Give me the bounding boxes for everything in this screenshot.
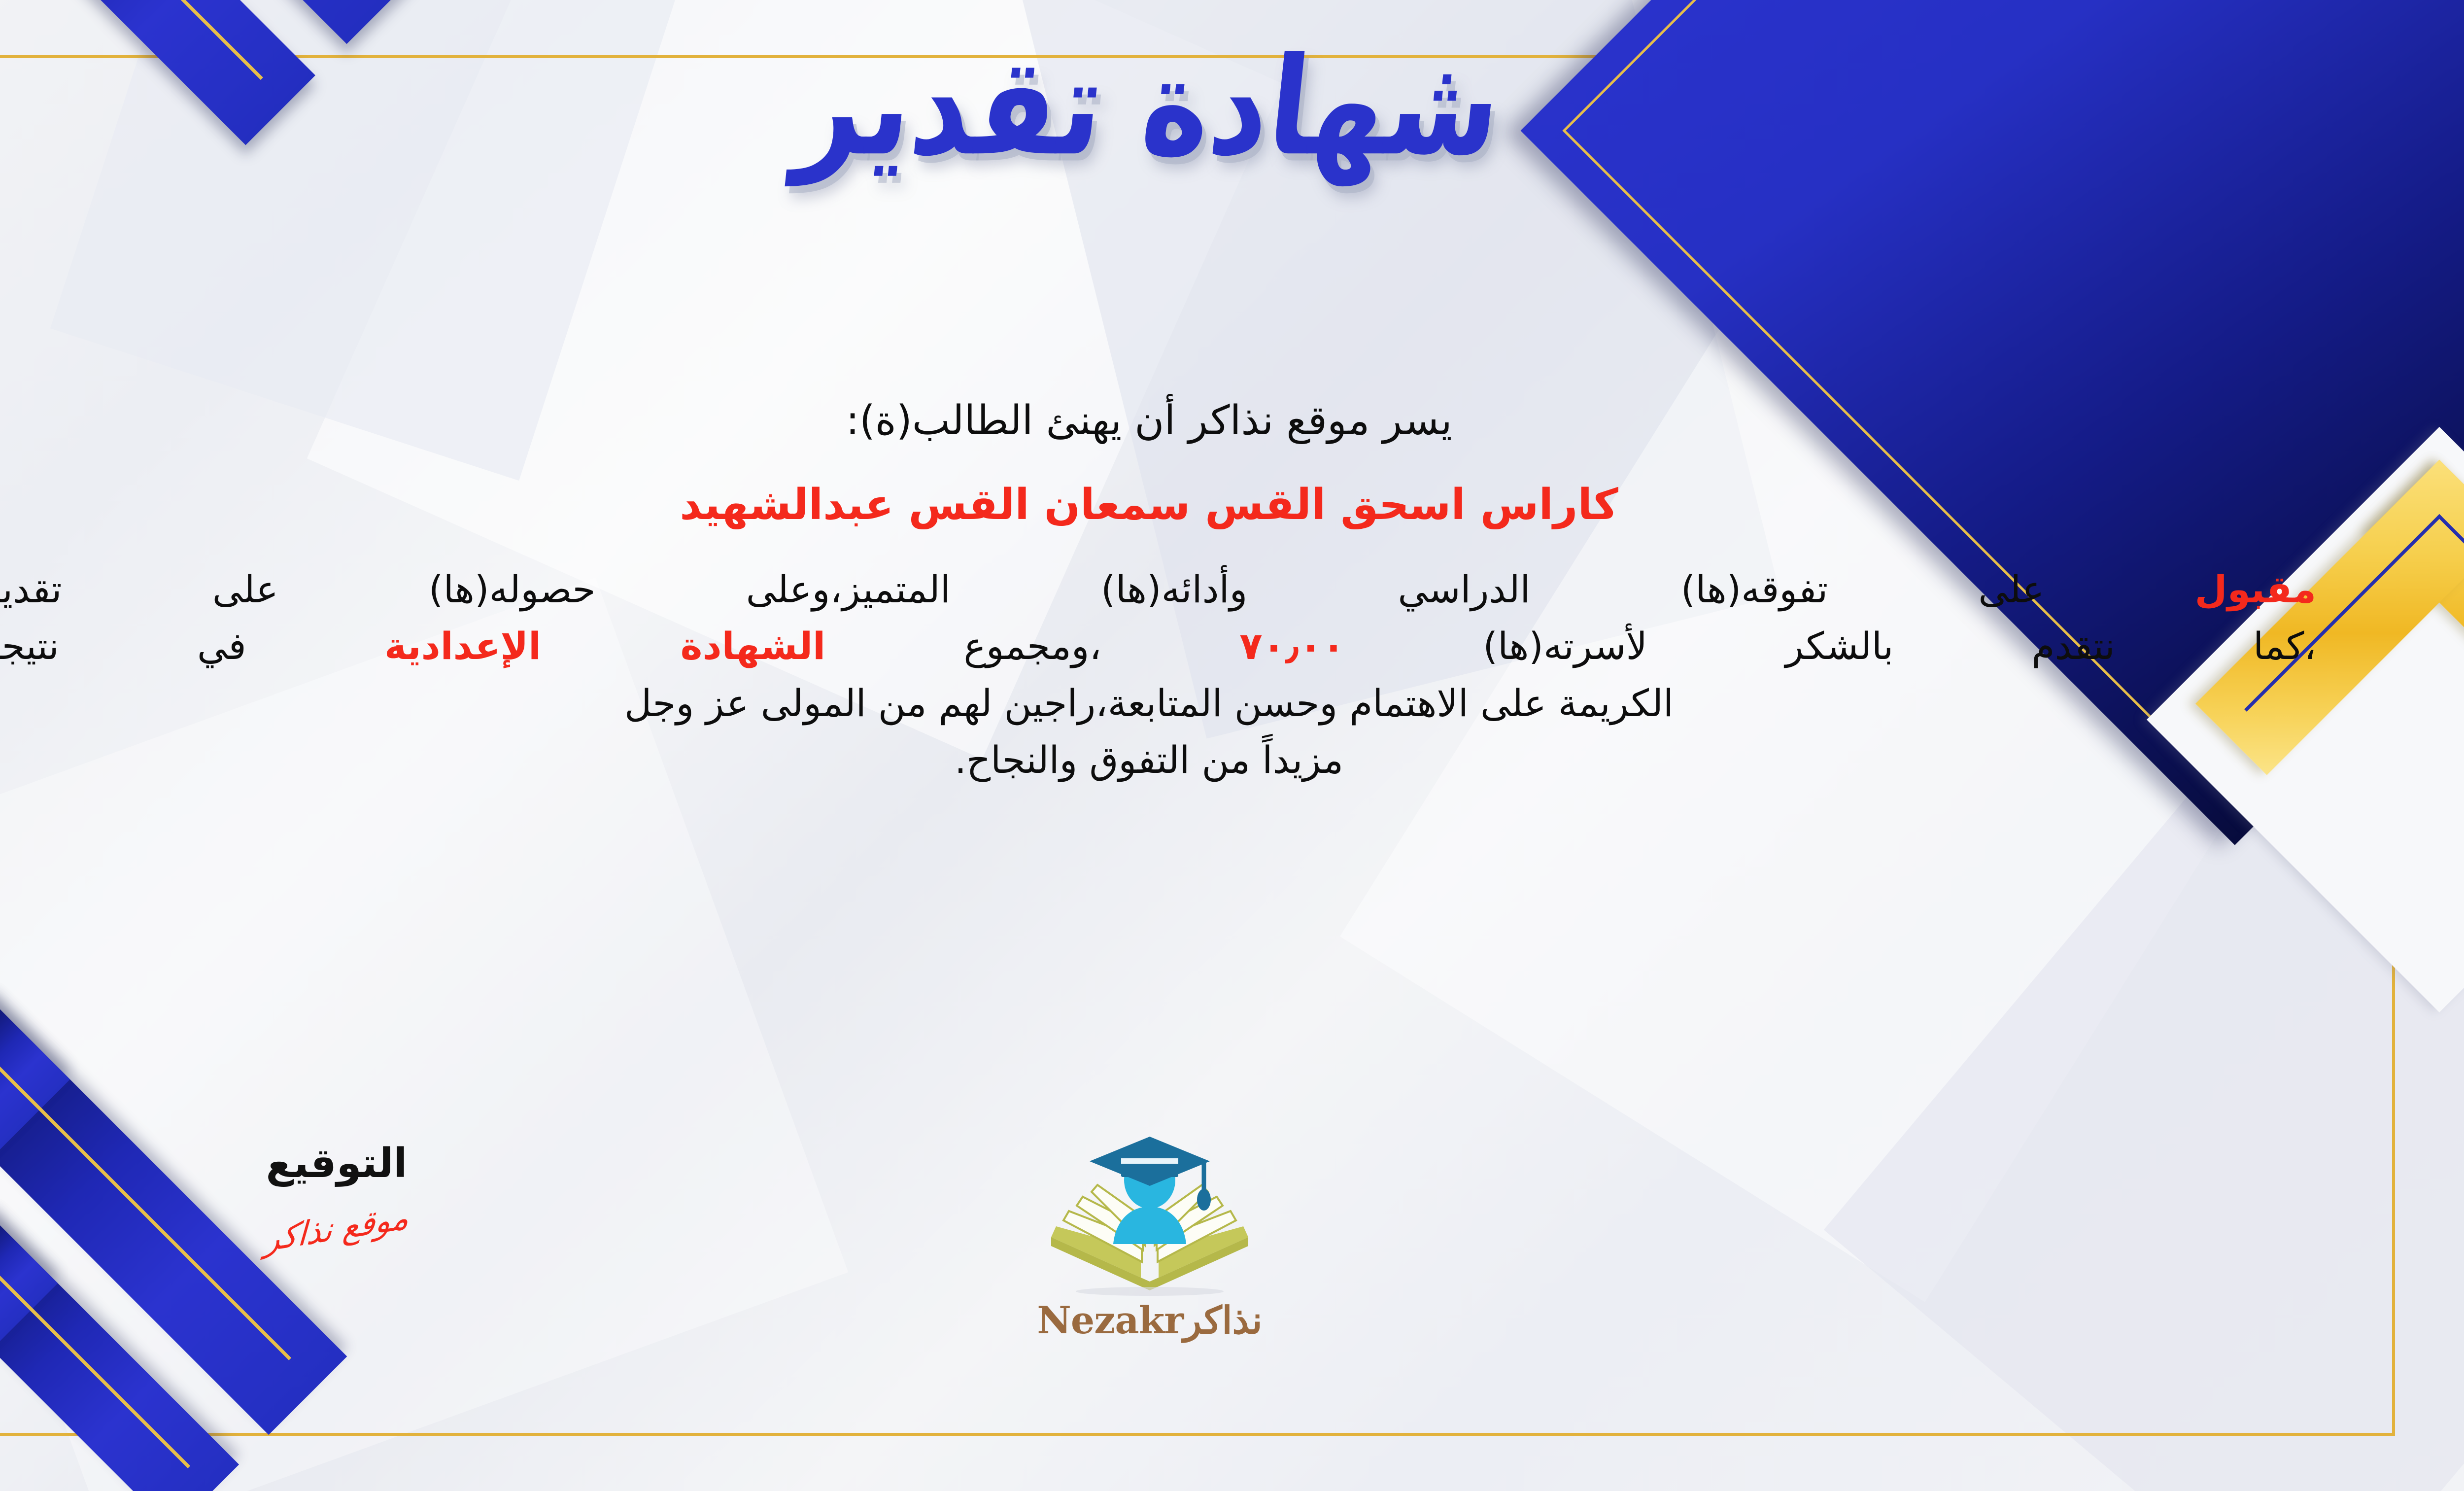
blue-chevron-band [0, 1001, 70, 1435]
body-line-1-text: على تفوقه(ها) الدراسي وأدائه(ها) المتميز… [0, 567, 2044, 611]
logo-latin: Nezakr [1037, 1298, 1183, 1342]
body-line-2: ،كما نتقدم بالشكر لأسرته(ها) ٧٠٫٠٠ ،ومجم… [0, 618, 2316, 675]
grade-value: مقبول [2195, 567, 2316, 611]
total-score: ٧٠٫٠٠ [1239, 624, 1345, 668]
body-line-3: الكريمة على الاهتمام وحسن المتابعة،راجين… [0, 675, 2316, 732]
gold-inline-accent [0, 1267, 190, 1468]
blue-chevron-band [0, 0, 110, 44]
student-name: كاراس اسحق القس سمعان القس عبدالشهيد [0, 477, 2316, 533]
certificate-canvas: شهادة تقدير يسر موقع نذاكر أن يهنئ الطال… [0, 0, 2464, 1491]
certificate-name: الشهادة الإعدادية [384, 624, 825, 668]
lead-line: يسر موقع نذاكر أن يهنئ الطالب(ة): [0, 394, 2316, 448]
body-line-2-mid: ،ومجموع [963, 624, 1101, 668]
blue-chevron-band [0, 0, 430, 44]
blue-inline-accent [2437, 514, 2464, 712]
gold-chevron-band [2368, 460, 2464, 775]
logo-arabic: نذاكر [1183, 1298, 1262, 1342]
blue-chevron-band [0, 1217, 239, 1491]
certificate-body: يسر موقع نذاكر أن يهنئ الطالب(ة): كاراس … [0, 394, 2316, 789]
certificate-title: شهادة تقدير [790, 33, 1507, 181]
graduate-open-book-icon [1036, 1134, 1263, 1296]
signature-label: التوقيع [208, 1144, 465, 1184]
body-line-1: مقبول على تفوقه(ها) الدراسي وأدائه(ها) ا… [0, 561, 2316, 618]
signature-mark: موقع نذاكر [264, 1198, 410, 1259]
body-line-2-head: في نتيجة [0, 624, 246, 668]
body-paragraph: مقبول على تفوقه(ها) الدراسي وأدائه(ها) ا… [0, 561, 2316, 789]
signature-block: التوقيع موقع نذاكر [208, 1144, 465, 1248]
body-line-2-tail: ،كما نتقدم بالشكر لأسرته(ها) [1483, 624, 2316, 668]
logo-wordmark: نذاكرNezakr [997, 1298, 1302, 1342]
certificate-title-wrap: شهادة تقدير [0, 44, 2464, 170]
body-line-4: مزيداً من التفوق والنجاح. [0, 731, 2316, 789]
site-logo: نذاكرNezakr [997, 1134, 1302, 1342]
blue-chevron-band [0, 1217, 58, 1491]
